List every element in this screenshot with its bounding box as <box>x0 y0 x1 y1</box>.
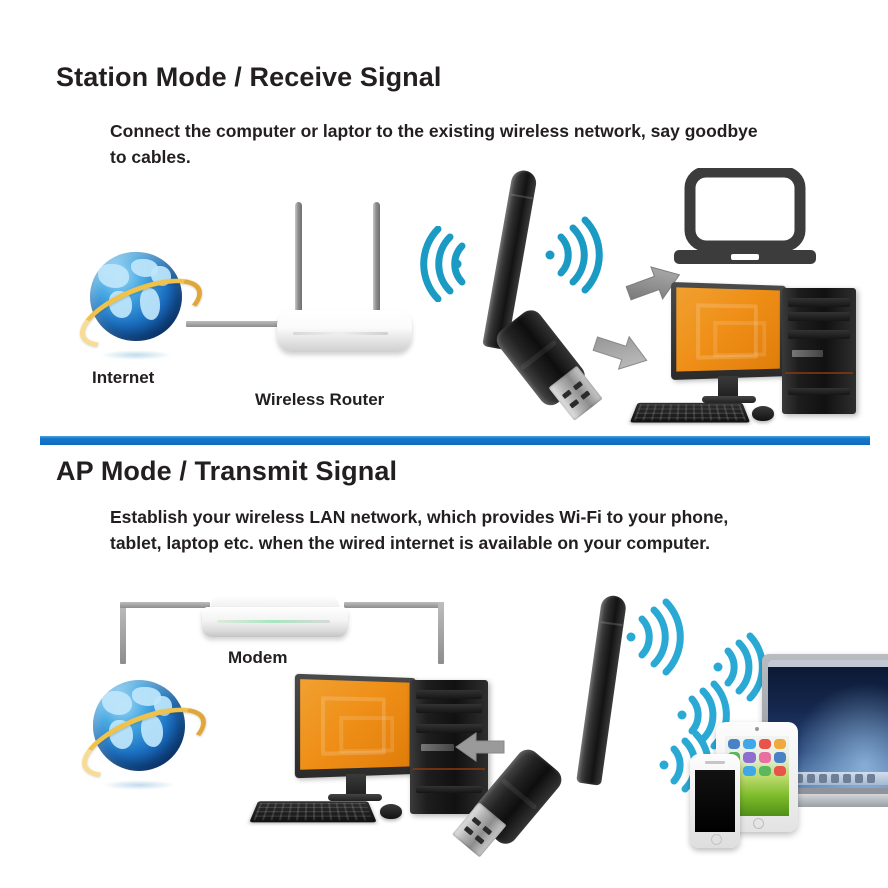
wifi-signal-icon-adapter-top <box>543 216 607 294</box>
monitor <box>295 674 416 779</box>
monitor-screen <box>300 679 409 770</box>
globe-shadow <box>100 350 172 361</box>
tablet-home-button <box>753 818 764 829</box>
keyboard <box>249 801 376 822</box>
computer-tower <box>782 288 856 414</box>
section-divider <box>40 436 870 445</box>
router-antenna-right <box>373 202 380 314</box>
modem-device <box>202 596 348 644</box>
monitor-stand <box>718 376 738 398</box>
phone-speaker <box>705 761 725 764</box>
ap-mode-description: Establish your wireless LAN network, whi… <box>110 504 770 556</box>
modem-label: Modem <box>228 648 288 668</box>
modem-led-strip <box>217 620 331 623</box>
station-mode-description: Connect the computer or laptor to the ex… <box>110 118 770 170</box>
monitor-stand <box>346 774 366 796</box>
globe-shadow <box>102 780 175 791</box>
monitor-base <box>328 794 382 801</box>
router-led-strip <box>293 332 388 335</box>
tablet-camera <box>755 727 759 731</box>
station-mode-title: Station Mode / Receive Signal <box>56 62 442 93</box>
infographic-canvas: Station Mode / Receive Signal Connect th… <box>0 0 888 888</box>
wireless-router-label: Wireless Router <box>255 390 384 410</box>
internet-label: Internet <box>92 368 154 388</box>
wireless-router-device <box>277 202 412 352</box>
mouse <box>752 406 774 421</box>
monitor <box>671 282 786 380</box>
cable-globe-to-modem <box>120 602 210 608</box>
mouse <box>380 804 402 819</box>
wifi-signal-icon-adapter-bottom <box>624 598 688 676</box>
laptop-icon <box>668 168 828 268</box>
cable-modem-to-pc <box>344 602 444 608</box>
cable-pc-vertical <box>438 602 444 664</box>
phone-frame <box>690 754 740 848</box>
arrow-down-right-icon <box>590 330 652 374</box>
monitor-screen <box>676 287 780 371</box>
cable-globe-vertical <box>120 602 126 664</box>
keyboard <box>630 403 750 423</box>
adapter-antenna <box>576 594 627 786</box>
desktop-computer-top <box>672 284 872 424</box>
phone-screen <box>695 770 735 832</box>
usb-wifi-adapter-bottom <box>460 584 630 874</box>
router-body <box>277 310 412 352</box>
ap-mode-title: AP Mode / Transmit Signal <box>56 456 397 487</box>
globe-internet-icon-bottom <box>78 668 200 788</box>
phone-home-button <box>711 834 722 845</box>
router-antenna-left <box>295 202 302 314</box>
macbook-menubar <box>768 660 888 667</box>
smartphone-device <box>690 754 740 848</box>
globe-internet-icon <box>76 240 196 358</box>
modem-body <box>202 607 348 637</box>
